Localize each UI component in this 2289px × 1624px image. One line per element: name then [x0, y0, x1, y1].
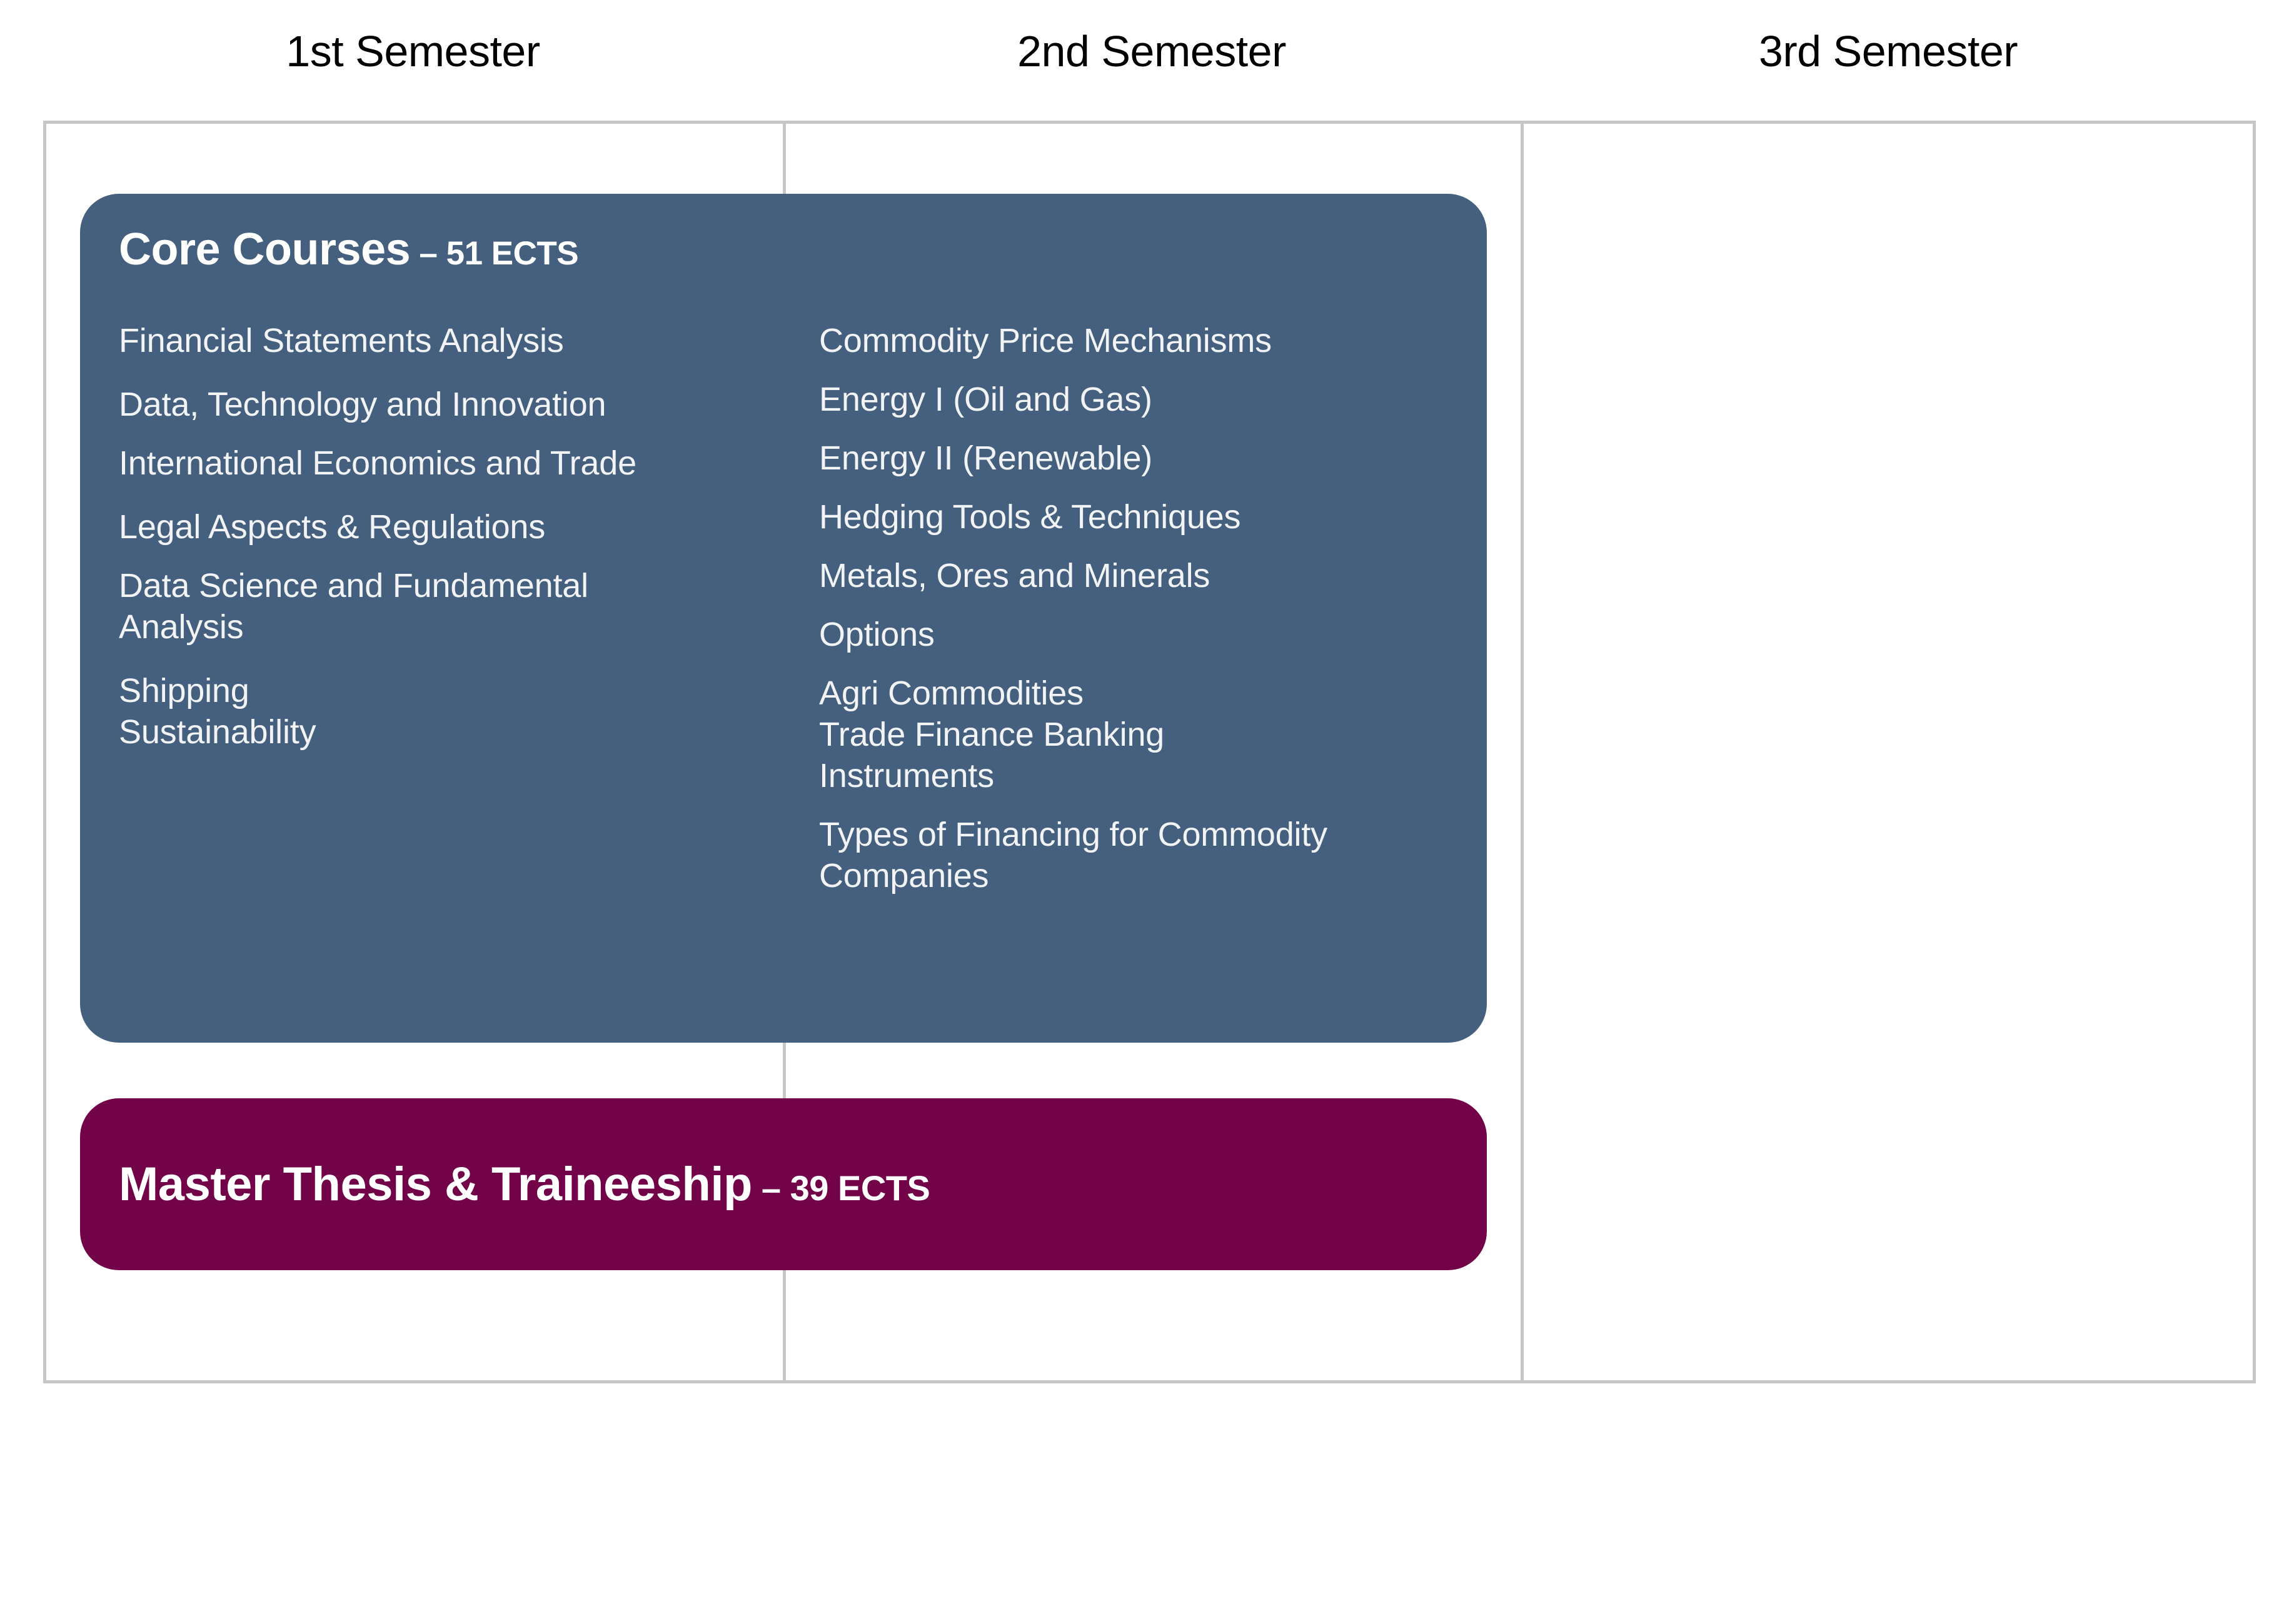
master-thesis-ects-value: 39 [790, 1168, 828, 1208]
course-item: Financial Statements Analysis [119, 324, 787, 358]
course-item: Agri Commodities [819, 676, 1487, 710]
course-item: Hedging Tools & Techniques [819, 500, 1487, 534]
semester-header-1-label: 1st Semester [286, 26, 540, 76]
course-item-continuation: Instruments [819, 759, 1487, 793]
course-item: Types of Financing for Commodity [819, 818, 1487, 851]
master-thesis-title-text: Master Thesis & Traineeship [119, 1158, 752, 1211]
course-item: International Economics and Trade [119, 446, 787, 480]
course-item: Trade Finance Banking [819, 718, 1487, 751]
course-item: Options [819, 618, 1487, 651]
master-thesis-title: Master Thesis & Traineeship – 39 ECTS [80, 1157, 930, 1211]
core-courses-ects: – 51 ECTS [410, 235, 578, 272]
master-thesis-ects: – 39 ECTS [752, 1168, 930, 1208]
core-courses-ects-unit: ECTS [483, 235, 579, 272]
course-item: Energy II (Renewable) [819, 441, 1487, 475]
course-item-continuation: Companies [819, 859, 1487, 893]
course-item: Energy I (Oil and Gas) [819, 383, 1487, 416]
column-divider-2 [1521, 124, 1524, 1380]
semester-header-row: 1st Semester 2nd Semester 3rd Semester [43, 0, 2256, 121]
core-courses-panel: Core Courses – 51 ECTS Financial Stateme… [80, 194, 1487, 1043]
core-courses-ects-separator: – [410, 235, 446, 272]
master-thesis-ects-separator: – [752, 1168, 790, 1208]
semester-header-1: 1st Semester [43, 0, 783, 121]
course-item: Metals, Ores and Minerals [819, 559, 1487, 593]
course-item: Data, Technology and Innovation [119, 388, 787, 421]
master-thesis-banner: Master Thesis & Traineeship – 39 ECTS [80, 1098, 1487, 1270]
master-thesis-ects-unit: ECTS [828, 1168, 930, 1208]
semester-header-3-label: 3rd Semester [1759, 26, 2018, 76]
semester1-course-list: Financial Statements Analysis Data, Tech… [80, 324, 787, 893]
course-item: Sustainability [119, 715, 787, 749]
core-courses-title-text: Core Courses [119, 224, 410, 274]
core-courses-ects-value: 51 [446, 235, 483, 272]
semester-header-3: 3rd Semester [1521, 0, 2256, 121]
course-item-continuation: Analysis [119, 610, 787, 644]
course-item: Commodity Price Mechanisms [819, 324, 1487, 358]
semester2-course-list: Commodity Price Mechanisms Energy I (Oil… [787, 324, 1487, 893]
core-courses-columns: Financial Statements Analysis Data, Tech… [80, 324, 1487, 893]
semester-header-2: 2nd Semester [783, 0, 1521, 121]
course-item: Legal Aspects & Regulations [119, 510, 787, 544]
semester-header-2-label: 2nd Semester [1017, 26, 1286, 76]
course-item: Data Science and Fundamental [119, 569, 787, 603]
core-courses-title: Core Courses – 51 ECTS [119, 224, 578, 275]
course-item: Shipping [119, 674, 787, 708]
